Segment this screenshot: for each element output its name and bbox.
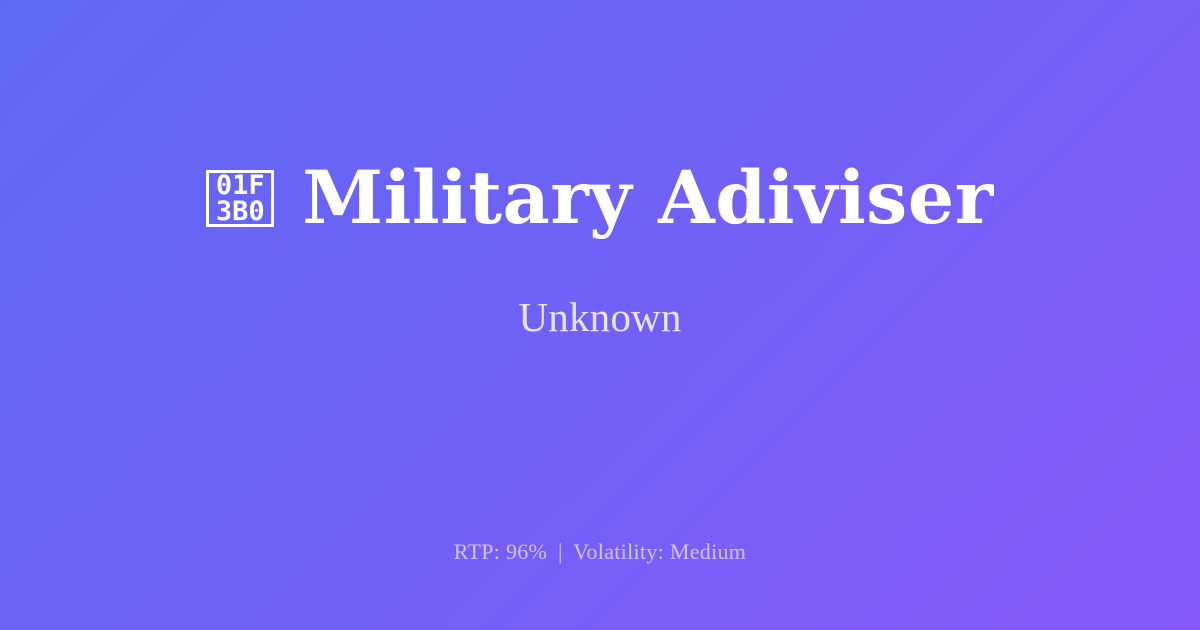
hero-block: 01F 3B0 Military Adiviser Unknown <box>0 0 1200 500</box>
rtp-value: 96% <box>506 539 547 564</box>
rtp-label: RTP: <box>454 539 500 564</box>
title-row: 01F 3B0 Military Adiviser <box>206 162 993 235</box>
slot-machine-emoji-tofu-icon: 01F 3B0 <box>206 170 274 227</box>
volatility-value: Medium <box>670 539 746 564</box>
volatility-label: Volatility: <box>573 539 664 564</box>
game-provider: Unknown <box>518 297 681 338</box>
game-meta: RTP: 96% | Volatility: Medium <box>0 541 1200 563</box>
game-preview-card: 01F 3B0 Military Adiviser Unknown RTP: 9… <box>0 0 1200 630</box>
meta-separator: | <box>553 539 568 564</box>
tofu-codepoint-top: 01F <box>216 173 265 199</box>
tofu-codepoint-bottom: 3B0 <box>216 199 265 225</box>
game-title: Military Adiviser <box>302 162 993 235</box>
